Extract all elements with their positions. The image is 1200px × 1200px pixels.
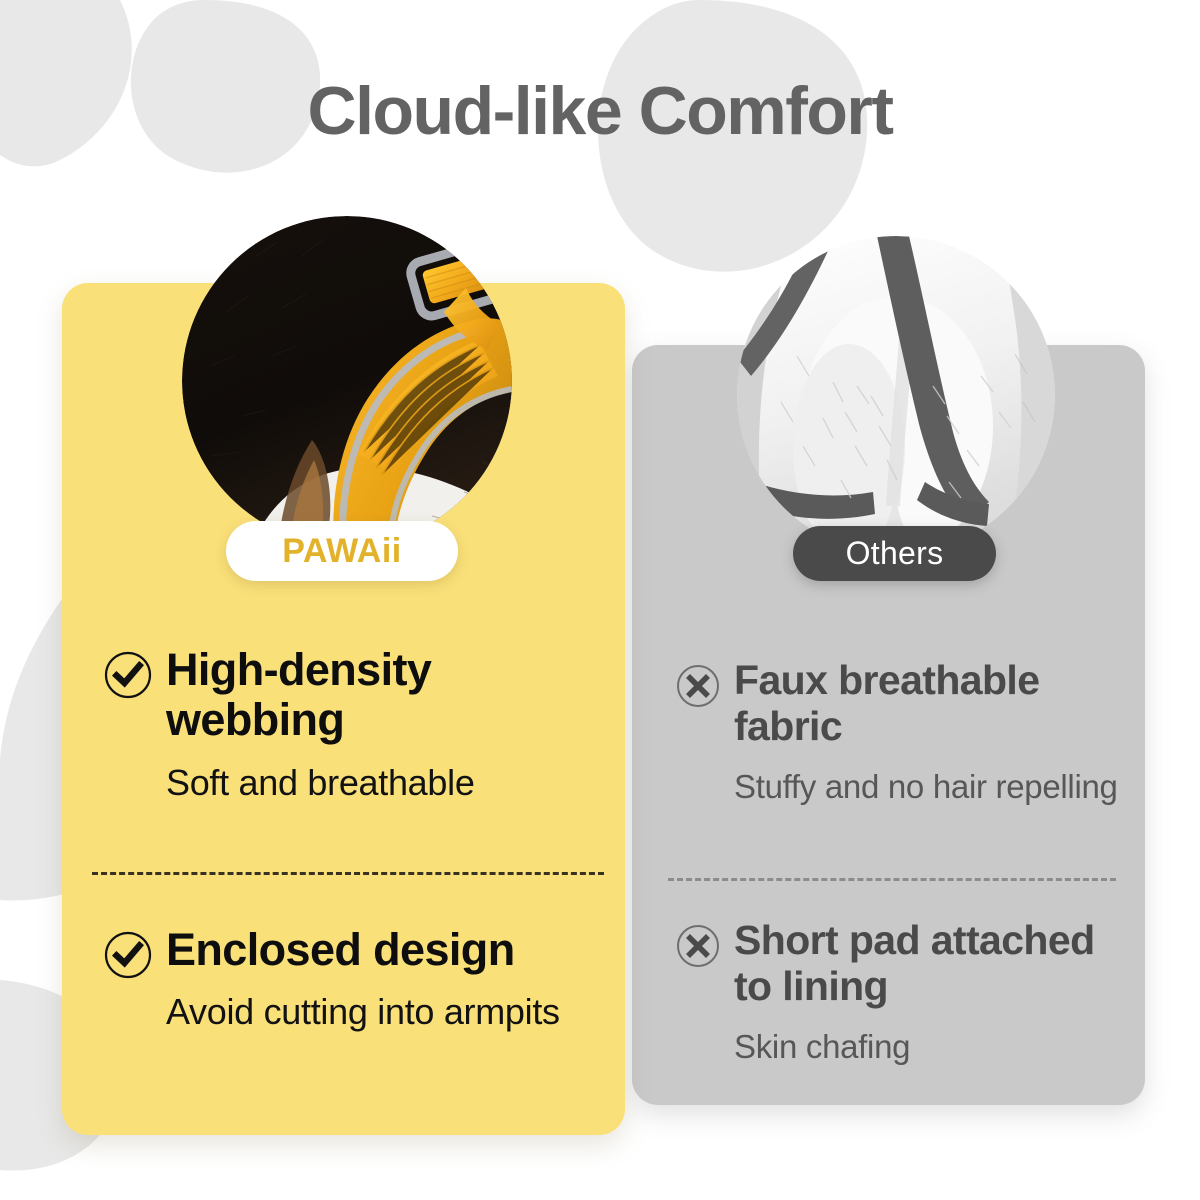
feature-row-good-2: Enclosed design Avoid cutting into armpi… (104, 925, 604, 1034)
others-product-photo (737, 236, 1055, 554)
check-circle-icon (104, 925, 166, 1034)
pawaii-product-photo (182, 216, 512, 546)
feature-subtext: Avoid cutting into armpits (166, 991, 604, 1033)
feature-subtext: Stuffy and no hair repelling (734, 768, 1126, 807)
divider-good (92, 872, 604, 875)
x-circle-icon (676, 658, 734, 807)
feature-heading: Enclosed design (166, 925, 604, 975)
feature-heading: High-density webbing (166, 645, 604, 746)
feature-row-bad-1: Faux breathable fabric Stuffy and no hai… (676, 658, 1126, 807)
page-title: Cloud-like Comfort (0, 72, 1200, 150)
feature-row-bad-2: Short pad attached to lining Skin chafin… (676, 918, 1126, 1067)
feature-subtext: Skin chafing (734, 1028, 1126, 1067)
feature-heading: Short pad attached to lining (734, 918, 1126, 1010)
pawaii-badge: PAWAii (226, 521, 458, 581)
feature-row-good-1: High-density webbing Soft and breathable (104, 645, 604, 804)
feature-heading: Faux breathable fabric (734, 658, 1126, 750)
check-circle-icon (104, 645, 166, 804)
others-badge: Others (793, 526, 996, 581)
divider-bad (668, 878, 1116, 881)
x-circle-icon (676, 918, 734, 1067)
feature-subtext: Soft and breathable (166, 762, 604, 804)
